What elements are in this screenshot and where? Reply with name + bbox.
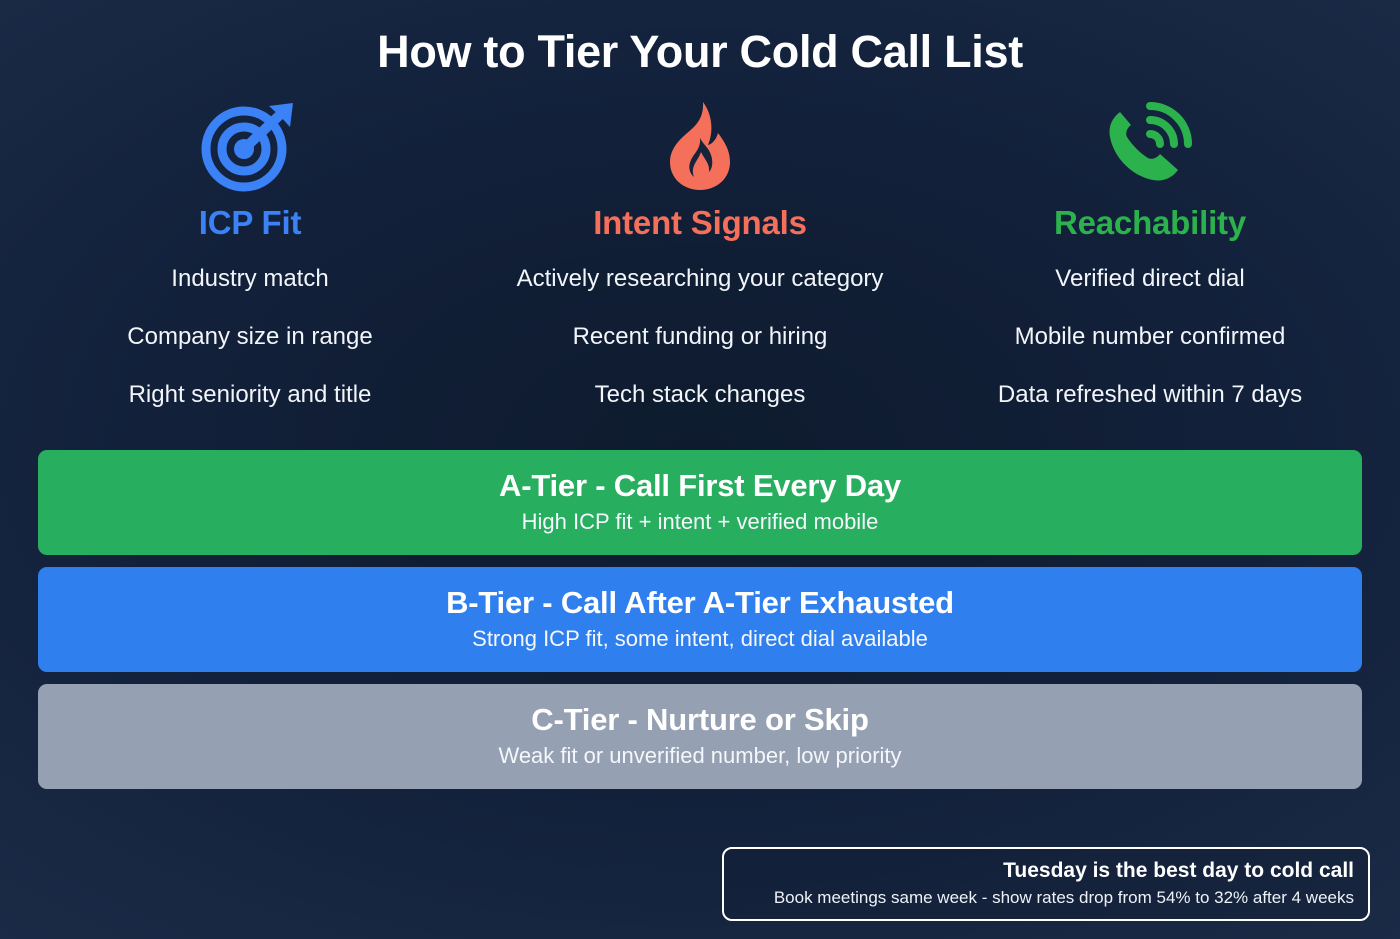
pillar-icp-fit: ICP Fit Industry match Company size in r…: [30, 100, 470, 438]
footer-callout-box: Tuesday is the best day to cold call Boo…: [722, 847, 1370, 922]
pillar-heading: ICP Fit: [199, 204, 302, 242]
page-title: How to Tier Your Cold Call List: [0, 0, 1400, 78]
flame-icon: [660, 100, 740, 192]
pillar-item-list: Actively researching your category Recen…: [480, 264, 920, 438]
pillars-section: ICP Fit Industry match Company size in r…: [0, 78, 1400, 438]
pillar-reachability: Reachability Verified direct dial Mobile…: [930, 100, 1370, 438]
tier-subtitle: Strong ICP fit, some intent, direct dial…: [472, 626, 928, 652]
list-item: Right seniority and title: [30, 380, 470, 410]
pillar-intent-signals: Intent Signals Actively researching your…: [480, 100, 920, 438]
footer-subtext: Book meetings same week - show rates dro…: [738, 887, 1354, 908]
footer-headline: Tuesday is the best day to cold call: [738, 858, 1354, 884]
list-item: Actively researching your category: [480, 264, 920, 294]
list-item: Company size in range: [30, 322, 470, 352]
tier-subtitle: Weak fit or unverified number, low prior…: [498, 743, 901, 769]
pillar-heading: Reachability: [1054, 204, 1246, 242]
target-arrow-icon: [197, 100, 303, 192]
list-item: Mobile number confirmed: [930, 322, 1370, 352]
tier-title: A-Tier - Call First Every Day: [499, 467, 901, 504]
tier-title: C-Tier - Nurture or Skip: [531, 701, 868, 738]
tier-subtitle: High ICP fit + intent + verified mobile: [522, 509, 879, 535]
tier-bar-c: C-Tier - Nurture or Skip Weak fit or unv…: [38, 684, 1362, 789]
pillar-heading: Intent Signals: [593, 204, 807, 242]
tier-title: B-Tier - Call After A-Tier Exhausted: [446, 584, 954, 621]
pillar-item-list: Industry match Company size in range Rig…: [30, 264, 470, 438]
list-item: Data refreshed within 7 days: [930, 380, 1370, 410]
tier-bar-b: B-Tier - Call After A-Tier Exhausted Str…: [38, 567, 1362, 672]
list-item: Tech stack changes: [480, 380, 920, 410]
tier-bar-a: A-Tier - Call First Every Day High ICP f…: [38, 450, 1362, 555]
phone-signal-icon: [1098, 100, 1202, 192]
list-item: Recent funding or hiring: [480, 322, 920, 352]
pillar-item-list: Verified direct dial Mobile number confi…: [930, 264, 1370, 438]
tier-bars-section: A-Tier - Call First Every Day High ICP f…: [38, 450, 1362, 789]
list-item: Industry match: [30, 264, 470, 294]
list-item: Verified direct dial: [930, 264, 1370, 294]
